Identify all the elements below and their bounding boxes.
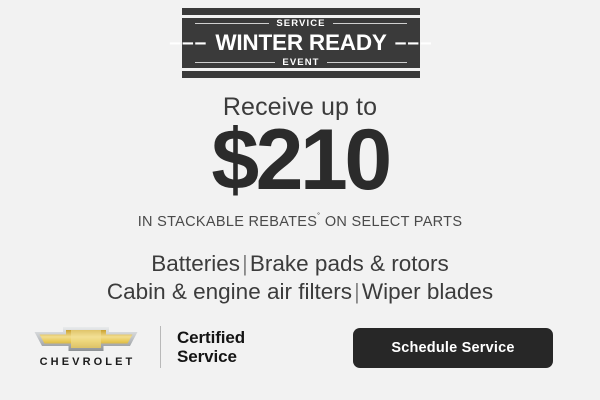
brand-divider (160, 326, 161, 368)
item-air-filters: Cabin & engine air filters (107, 279, 352, 304)
certified-service-label: Certified Service (177, 328, 245, 366)
offer-amount: $210 (0, 113, 600, 208)
covered-items: Batteries|Brake pads & rotors Cabin & en… (0, 250, 600, 306)
badge-eyebrow-row: SERVICE (195, 18, 407, 29)
badge-top-bar (182, 8, 420, 15)
offer-disclaimer: IN STACKABLE REBATES˚ ON SELECT PARTS (0, 214, 600, 230)
badge-headline: WINTER READY (207, 30, 394, 56)
item-wiper-blades: Wiper blades (362, 279, 493, 304)
certified-service-line-1: Certified (177, 328, 245, 347)
offer-disclaimer-suffix: ON SELECT PARTS (321, 214, 463, 230)
badge-eyebrow-rule-right (333, 23, 407, 24)
offer-disclaimer-text: IN STACKABLE REBATES (138, 214, 318, 230)
badge-eyebrow-rule-left (195, 23, 269, 24)
badge-footer-label: EVENT (275, 57, 326, 68)
badge-footer-rule-right (327, 62, 407, 63)
badge-dashes-right: ––– (395, 31, 433, 55)
badge-dashes-left: ––– (169, 31, 207, 55)
winter-ready-service-ad: SERVICE ––– WINTER READY ––– EVENT Recei… (0, 0, 600, 400)
badge-eyebrow-label: SERVICE (269, 18, 332, 29)
item-separator-2: | (352, 279, 362, 304)
badge-footer-row: EVENT (195, 57, 407, 68)
item-separator-1: | (240, 251, 250, 276)
chevrolet-bowtie-icon (32, 326, 140, 352)
certified-service-line-2: Service (177, 347, 245, 366)
item-batteries: Batteries (151, 251, 240, 276)
winter-ready-badge: SERVICE ––– WINTER READY ––– EVENT (182, 8, 420, 78)
covered-items-line-2: Cabin & engine air filters|Wiper blades (0, 278, 600, 306)
chevrolet-wordmark: CHEVROLET (37, 356, 136, 368)
badge-headline-row: ––– WINTER READY ––– (186, 30, 416, 56)
covered-items-line-1: Batteries|Brake pads & rotors (0, 250, 600, 278)
schedule-service-button[interactable]: Schedule Service (353, 328, 553, 368)
item-brake-pads-rotors: Brake pads & rotors (250, 251, 449, 276)
badge-core: SERVICE ––– WINTER READY ––– EVENT (182, 18, 420, 68)
badge-footer-rule-left (195, 62, 275, 63)
brand-lockup: CHEVROLET Certified Service (30, 322, 245, 372)
chevrolet-logo: CHEVROLET (30, 326, 142, 368)
badge-bottom-bar (182, 71, 420, 78)
